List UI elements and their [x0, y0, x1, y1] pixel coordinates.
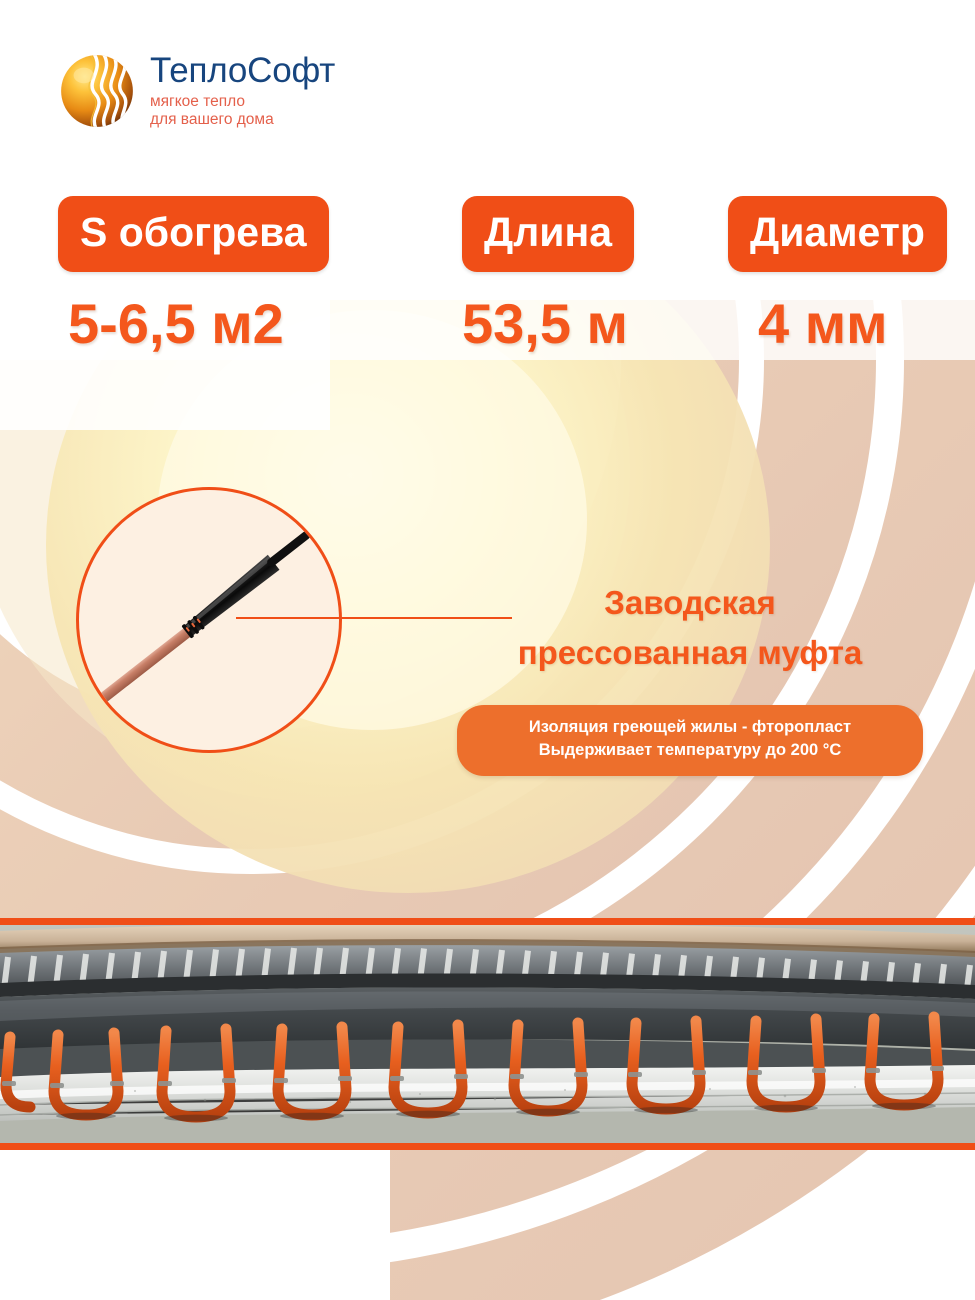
insulation-info-pill: Изоляция греющей жилы - фторопласт Выдер… [457, 705, 923, 776]
brand-tagline-line-2: для вашего дома [150, 111, 335, 129]
photo-top-rule [0, 918, 975, 925]
spec-diameter-label: Диаметр [728, 196, 947, 272]
photo-bottom-rule [0, 1143, 975, 1150]
cable-coupling-magnifier [76, 487, 342, 753]
brand-name: ТеплоСофт [150, 53, 335, 88]
callout-line-1: Заводская [452, 578, 928, 628]
brand-tagline: мягкое тепло для вашего дома [150, 93, 335, 128]
spec-length: Длина 53,5 м [462, 196, 634, 352]
spec-length-label: Длина [462, 196, 634, 272]
brand-logo[interactable]: ТеплоСофт мягкое тепло для вашего дома [58, 52, 335, 130]
underfloor-heating-cable-photo [0, 925, 975, 1143]
product-infographic-poster: ТеплоСофт мягкое тепло для вашего дома S… [0, 0, 975, 1300]
underfloor-heating-cable-photo-icon [0, 925, 975, 1143]
spec-length-value: 53,5 м [462, 296, 628, 352]
brand-tagline-line-1: мягкое тепло [150, 93, 335, 111]
callout-line-2: прессованная муфта [452, 628, 928, 678]
callout-heading: Заводская прессованная муфта [452, 578, 928, 678]
brand-wordmark: ТеплоСофт мягкое тепло для вашего дома [150, 53, 335, 128]
spec-diameter-value: 4 мм [758, 296, 888, 352]
insulation-info-line-2: Выдерживает температуру до 200 °C [475, 739, 905, 762]
spec-heating-area-value: 5-6,5 м2 [68, 296, 284, 352]
product-photo-strip [0, 918, 975, 1150]
insulation-info-line-1: Изоляция греющей жилы - фторопласт [475, 716, 905, 739]
spec-diameter: Диаметр 4 мм [728, 196, 947, 352]
spec-heating-area: S обогрева 5-6,5 м2 [58, 196, 329, 352]
teplosoft-sphere-logo-icon [58, 52, 136, 130]
spec-heating-area-label: S обогрева [58, 196, 329, 272]
